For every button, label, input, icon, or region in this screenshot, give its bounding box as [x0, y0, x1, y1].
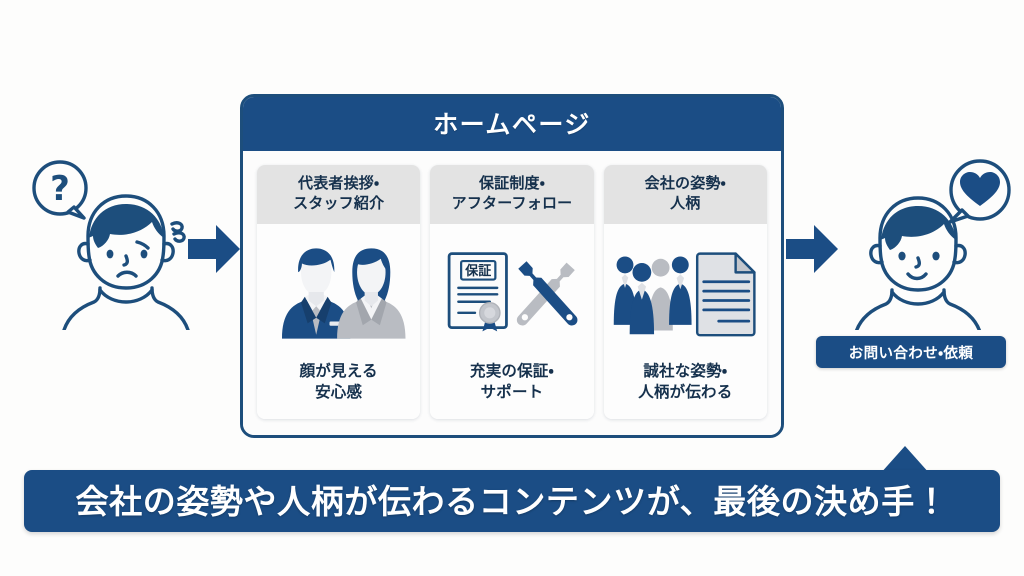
- card-heading: 代表者挨拶・ スタッフ紹介: [257, 165, 420, 224]
- card-caption: 誠社な姿勢・ 人柄が伝わる: [604, 361, 767, 419]
- team-group-and-document-icon: [604, 224, 767, 362]
- content-card-warranty-support[interactable]: 保証制度・ アフターフォロー 保証: [430, 165, 593, 419]
- warranty-certificate-and-wrenches-icon: 保証: [430, 224, 593, 362]
- conclusion-banner-text: 会社の姿勢や人柄が伝わるコンテンツが、最後の決め手！: [76, 485, 949, 518]
- panel-header: ホームページ: [243, 97, 781, 151]
- contact-request-label: お問い合わせ・依頼: [849, 342, 974, 363]
- diagram-canvas: ?: [0, 0, 1024, 576]
- conclusion-banner: 会社の姿勢や人柄が伝わるコンテンツが、最後の決め手！: [24, 470, 1000, 532]
- contact-request-badge[interactable]: お問い合わせ・依頼: [816, 336, 1006, 368]
- card-heading: 保証制度・ アフターフォロー: [430, 165, 593, 224]
- card-heading: 会社の姿勢・ 人柄: [604, 165, 767, 224]
- content-card-representative-greeting[interactable]: 代表者挨拶・ スタッフ紹介: [257, 165, 420, 419]
- svg-text:?: ?: [50, 169, 70, 209]
- card-caption: 充実の保証・ サポート: [430, 361, 593, 419]
- homepage-panel: ホームページ 代表者挨拶・ スタッフ紹介: [240, 94, 784, 438]
- worried-person-with-question-bubble-icon: ?: [22, 150, 192, 330]
- svg-text:保証: 保証: [464, 263, 491, 279]
- panel-body: 代表者挨拶・ スタッフ紹介: [243, 151, 781, 435]
- page-title: ホームページ: [433, 112, 591, 137]
- arrow-right-icon: [784, 222, 840, 276]
- arrow-right-icon: [186, 222, 242, 276]
- content-card-company-attitude[interactable]: 会社の姿勢・ 人柄: [604, 165, 767, 419]
- card-caption: 顔が見える 安心感: [257, 361, 420, 419]
- happy-person-with-heart-bubble-icon: [852, 150, 1022, 330]
- business-people-pair-icon: [257, 224, 420, 362]
